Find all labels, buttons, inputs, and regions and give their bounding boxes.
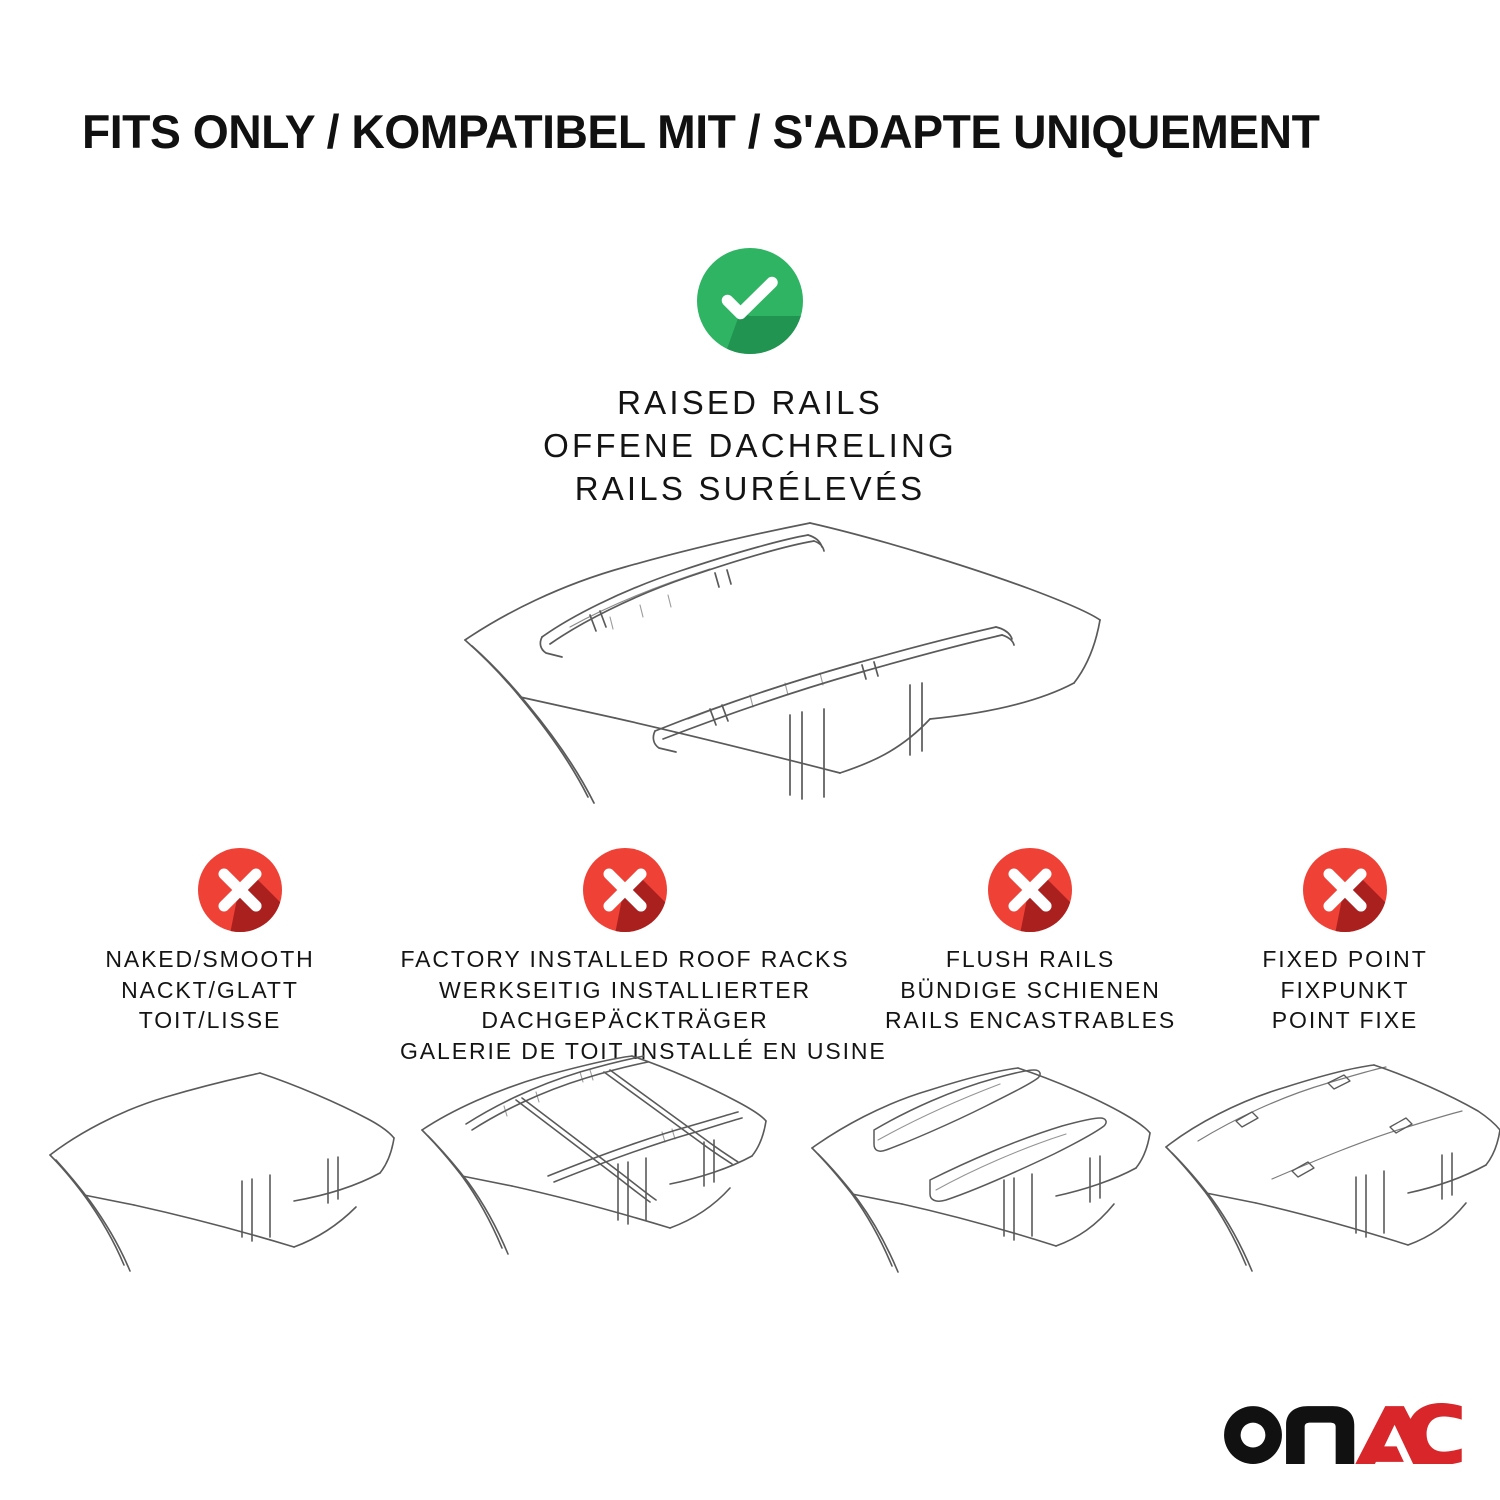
car-roof-raised-rails-illustration — [410, 505, 1110, 825]
car-roof-fixed-point-illustration — [1152, 1055, 1500, 1293]
label-line-1: FLUSH RAILS — [858, 944, 1203, 975]
label-line-3: TOIT/LISSE — [30, 1005, 390, 1036]
x-circle-icon — [583, 848, 667, 932]
fitment-infographic: FITS ONLY / KOMPATIBEL MIT / S'ADAPTE UN… — [0, 0, 1500, 1500]
car-roof-factory-rack-illustration — [408, 1048, 780, 1290]
label-line-1: FACTORY INSTALLED ROOF RACKS — [400, 944, 850, 975]
omac-logo — [1222, 1402, 1462, 1464]
label-line-2: NACKT/GLATT — [30, 975, 390, 1006]
label-line-2: BÜNDIGE SCHIENEN — [858, 975, 1203, 1006]
car-roof-naked-smooth-illustration — [38, 1055, 398, 1290]
x-circle-icon — [988, 848, 1072, 932]
compatible-label-en: RAISED RAILS — [543, 382, 957, 425]
check-circle-icon — [697, 248, 803, 354]
label-line-2: WERKSEITIG INSTALLIERTER — [400, 975, 850, 1006]
compatible-label-de: OFFENE DACHRELING — [543, 425, 957, 468]
compatible-section: RAISED RAILS OFFENE DACHRELING RAILS SUR… — [0, 248, 1500, 511]
x-circle-icon — [1303, 848, 1387, 932]
compatible-labels: RAISED RAILS OFFENE DACHRELING RAILS SUR… — [543, 382, 957, 511]
label-line-3: POINT FIXE — [1200, 1005, 1490, 1036]
car-roof-flush-rails-illustration — [790, 1052, 1162, 1290]
label-line-1: FIXED POINT — [1200, 944, 1490, 975]
incompatible-labels: FIXED POINT FIXPUNKT POINT FIXE — [1200, 944, 1490, 1036]
label-line-3: DACHGEPÄCKTRÄGER — [400, 1005, 850, 1036]
label-line-2: FIXPUNKT — [1200, 975, 1490, 1006]
incompatible-labels: NAKED/SMOOTH NACKT/GLATT TOIT/LISSE — [30, 944, 390, 1036]
incompatible-labels: FLUSH RAILS BÜNDIGE SCHIENEN RAILS ENCAS… — [858, 944, 1203, 1036]
label-line-3: RAILS ENCASTRABLES — [858, 1005, 1203, 1036]
page-title: FITS ONLY / KOMPATIBEL MIT / S'ADAPTE UN… — [82, 108, 1402, 155]
x-circle-icon — [198, 848, 282, 932]
label-line-1: NAKED/SMOOTH — [30, 944, 390, 975]
